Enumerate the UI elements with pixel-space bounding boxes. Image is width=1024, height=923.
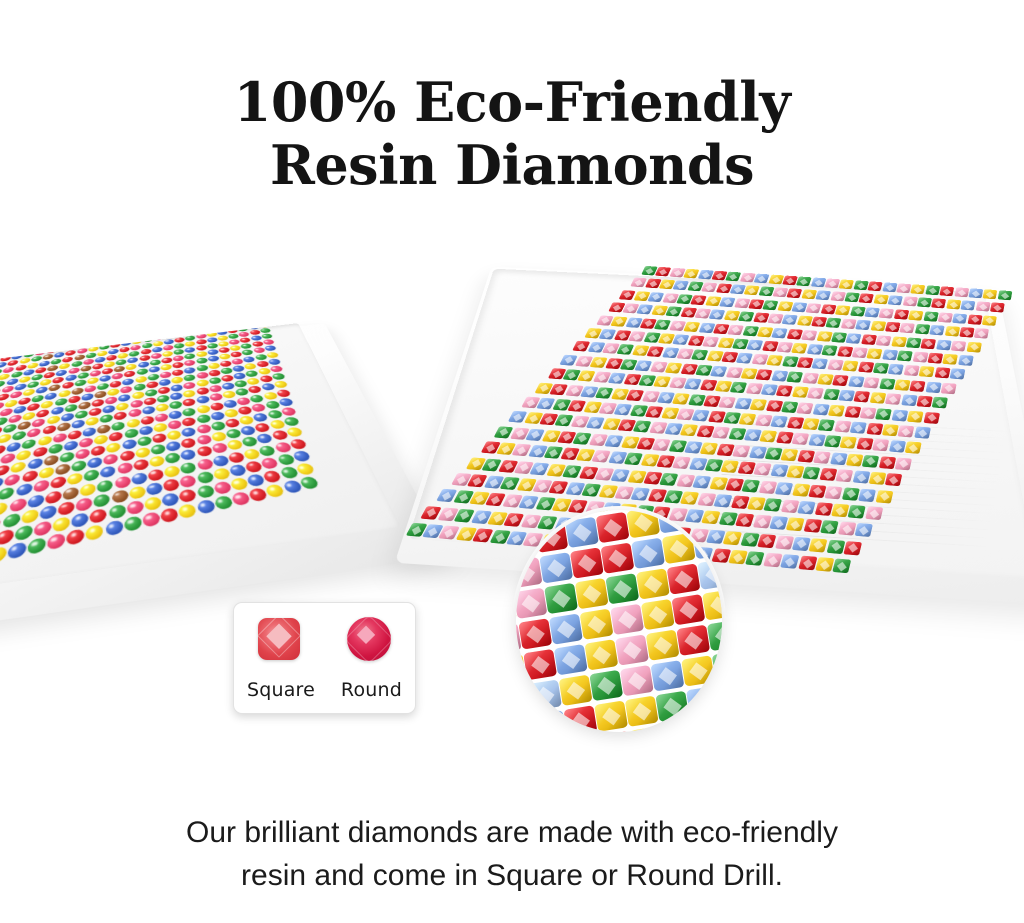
drill	[974, 328, 989, 339]
drill	[898, 425, 915, 437]
drill	[747, 340, 764, 351]
drill	[944, 326, 959, 337]
drill	[131, 471, 148, 485]
drill	[844, 406, 861, 418]
drill	[888, 296, 903, 306]
magnified-drill	[671, 594, 705, 625]
drill	[236, 323, 248, 326]
drill	[146, 481, 164, 496]
round-gem-icon	[347, 617, 391, 661]
drill	[866, 423, 883, 435]
drill	[104, 453, 119, 466]
drill	[285, 427, 304, 438]
magnified-drill	[516, 588, 547, 619]
drill	[145, 326, 156, 332]
drill	[212, 467, 231, 481]
drill	[163, 478, 181, 492]
drill	[714, 494, 733, 508]
drill	[94, 493, 111, 508]
drill	[761, 384, 778, 396]
drill	[885, 473, 903, 486]
magnified-drill	[570, 547, 604, 578]
magnified-drill	[615, 634, 649, 665]
drill	[776, 432, 794, 444]
magnified-drill	[533, 710, 567, 732]
magnified-drill	[565, 517, 599, 548]
drill	[185, 323, 196, 324]
drill	[876, 335, 892, 346]
magnified-drill	[620, 665, 654, 696]
drill	[292, 450, 312, 463]
drill	[806, 303, 822, 313]
drill	[919, 366, 935, 377]
drill-type-gems	[234, 615, 415, 663]
drill	[914, 426, 931, 438]
drill	[891, 336, 907, 347]
drill	[862, 455, 879, 468]
drill	[82, 337, 92, 343]
drill	[844, 541, 863, 555]
magnified-drill	[657, 510, 691, 534]
magnified-drill	[528, 679, 562, 710]
drill	[825, 278, 841, 288]
drill	[941, 383, 957, 395]
drill	[873, 295, 888, 305]
drill	[894, 309, 909, 319]
drill	[91, 340, 101, 346]
magnified-drill	[575, 578, 609, 609]
drill	[701, 283, 717, 293]
drill	[84, 469, 100, 483]
magnified-drill	[605, 573, 639, 604]
drill	[959, 327, 974, 338]
magnified-drill-grid	[516, 510, 722, 732]
drill	[0, 546, 7, 565]
drill	[721, 460, 740, 473]
drill	[831, 332, 847, 343]
drill	[869, 472, 887, 485]
drill	[865, 506, 883, 520]
drill	[817, 373, 834, 384]
drill	[781, 448, 799, 461]
drill	[990, 303, 1005, 313]
drill	[819, 468, 837, 481]
drill	[876, 408, 893, 420]
drill	[826, 318, 842, 328]
drill	[40, 504, 57, 520]
drill	[946, 300, 961, 310]
drill	[975, 302, 990, 312]
drill	[882, 349, 898, 360]
drill	[901, 395, 917, 407]
drill	[812, 359, 829, 370]
drill	[298, 476, 320, 491]
drill-type-card[interactable]: Square Round	[233, 602, 416, 714]
drill	[63, 486, 79, 501]
drill	[7, 542, 27, 561]
drill	[869, 392, 886, 404]
drill	[850, 422, 867, 434]
drill	[781, 499, 800, 513]
drill	[868, 281, 883, 291]
drill	[117, 462, 133, 475]
drill	[151, 444, 167, 456]
drill	[857, 362, 873, 373]
drill	[792, 433, 810, 445]
drill	[859, 294, 875, 304]
drill	[782, 356, 799, 367]
drill	[842, 361, 858, 372]
drill	[870, 321, 886, 331]
drill	[813, 403, 830, 415]
drill	[165, 323, 176, 328]
drill	[749, 446, 767, 459]
drill	[891, 409, 908, 421]
drill	[850, 306, 866, 316]
drill	[27, 346, 38, 352]
drill	[936, 339, 952, 350]
drill	[33, 479, 49, 493]
drill	[86, 524, 104, 542]
drill	[802, 418, 819, 430]
drill	[165, 328, 176, 334]
drill	[109, 504, 127, 520]
drill	[684, 321, 701, 332]
drill	[770, 464, 788, 477]
drill	[855, 320, 871, 330]
round-label: Round	[341, 679, 402, 701]
drill	[815, 557, 834, 572]
drill	[943, 354, 959, 365]
drill	[196, 458, 214, 471]
drill	[246, 323, 258, 324]
drill	[154, 329, 165, 335]
drill	[867, 348, 883, 359]
drill	[797, 501, 816, 515]
drill	[879, 378, 895, 389]
drill	[754, 274, 770, 284]
drill	[58, 500, 75, 516]
drill	[144, 496, 162, 512]
drill	[927, 353, 943, 364]
headline-line-1: 100% Eco-Friendly	[0, 73, 1024, 131]
magnified-drill	[560, 510, 594, 517]
drill	[702, 336, 719, 347]
magnified-drill	[601, 542, 635, 573]
drill	[710, 366, 727, 377]
drill	[852, 471, 870, 484]
drill	[814, 502, 832, 516]
drill	[739, 413, 757, 425]
drill	[932, 397, 948, 409]
drill	[133, 333, 144, 339]
drill	[846, 333, 862, 344]
drill	[763, 300, 779, 310]
drill	[5, 349, 16, 355]
drill	[112, 337, 122, 343]
drill	[196, 470, 215, 484]
drill	[940, 286, 955, 296]
magnified-drill	[523, 649, 557, 680]
magnified-drill	[688, 510, 722, 529]
magnified-drill	[516, 510, 533, 527]
drill	[742, 479, 761, 492]
drill	[895, 457, 912, 470]
drill	[807, 344, 824, 355]
drill	[860, 407, 877, 419]
drill	[72, 512, 89, 529]
drill	[124, 329, 134, 335]
drill	[124, 515, 143, 532]
drill	[982, 315, 997, 325]
magnified-drill	[655, 691, 689, 722]
drill	[803, 519, 822, 533]
drill	[801, 330, 817, 341]
magnified-drill	[564, 705, 598, 732]
magnified-drill	[599, 731, 633, 732]
drill	[786, 417, 804, 429]
drill	[798, 556, 817, 571]
drill	[830, 452, 848, 465]
magnified-drill	[691, 716, 722, 732]
drill	[824, 435, 842, 447]
headline-line-2: Resin Diamonds	[0, 136, 1024, 194]
drill	[833, 559, 852, 574]
drill	[797, 402, 814, 414]
drill	[885, 393, 902, 405]
square-label: Square	[247, 679, 315, 701]
drill	[827, 360, 844, 371]
drill	[923, 412, 940, 424]
drill-type-labels: Square Round	[234, 679, 415, 701]
drill	[885, 322, 901, 333]
drill	[797, 357, 814, 368]
drill	[802, 372, 819, 383]
drill	[863, 377, 880, 388]
drill	[807, 388, 824, 400]
drill	[27, 537, 46, 556]
drill	[769, 516, 788, 530]
drill	[180, 474, 198, 488]
drill	[768, 275, 784, 285]
drill	[98, 479, 114, 493]
drill	[997, 290, 1012, 300]
drill	[196, 434, 213, 446]
drill	[77, 496, 94, 512]
drill	[180, 461, 198, 474]
drill	[864, 307, 880, 317]
drill	[196, 484, 215, 499]
drill	[775, 482, 793, 495]
drill	[906, 337, 922, 348]
magnified-drill	[516, 557, 543, 588]
drill	[90, 508, 107, 524]
magnified-drill	[697, 559, 722, 590]
drill	[53, 516, 70, 533]
drill	[872, 439, 889, 452]
magnified-drill	[594, 700, 628, 731]
drill	[915, 324, 931, 335]
drill	[719, 297, 735, 307]
drill	[966, 341, 981, 352]
drill	[841, 319, 857, 329]
drill	[101, 338, 111, 344]
drill	[216, 323, 228, 324]
drill	[738, 312, 755, 322]
drill	[763, 553, 782, 568]
drill	[155, 324, 166, 330]
drill	[951, 340, 966, 351]
drill	[809, 538, 828, 552]
drill	[858, 488, 876, 501]
drill	[759, 480, 778, 493]
drill	[808, 484, 826, 497]
drill	[903, 365, 919, 376]
drill	[803, 467, 821, 480]
drill	[103, 333, 113, 339]
drill	[840, 437, 857, 449]
drill	[907, 410, 924, 422]
magnified-drill	[630, 726, 664, 732]
drill	[873, 363, 889, 374]
drill	[21, 508, 39, 524]
drill	[954, 287, 969, 297]
drill	[162, 492, 181, 507]
drill	[771, 416, 789, 428]
drill	[916, 396, 932, 408]
drill	[744, 286, 760, 296]
drill	[67, 528, 85, 546]
drill	[195, 328, 207, 334]
drill	[206, 326, 218, 332]
drill	[72, 338, 82, 344]
magnified-drill	[549, 613, 583, 644]
magnified-drill	[584, 639, 618, 670]
drill	[846, 453, 864, 466]
drill	[114, 475, 131, 489]
magnified-drill	[539, 552, 573, 583]
drill	[9, 497, 27, 512]
drill	[848, 376, 865, 387]
drill	[896, 283, 911, 293]
drill	[160, 507, 179, 524]
drill	[772, 328, 789, 339]
drill	[196, 499, 216, 515]
drill	[787, 371, 804, 382]
drill	[0, 529, 14, 547]
drill	[135, 328, 146, 334]
drill	[833, 375, 850, 386]
drill	[693, 475, 712, 488]
drill	[801, 290, 817, 300]
drill	[844, 293, 860, 303]
drill	[213, 480, 233, 495]
drill	[283, 416, 301, 427]
drill	[712, 427, 730, 439]
drill	[897, 350, 913, 361]
drill	[51, 476, 67, 490]
drill	[745, 551, 765, 566]
magnified-drill	[625, 696, 659, 727]
drill	[88, 456, 103, 469]
drill	[826, 539, 845, 553]
drill	[856, 438, 873, 451]
magnified-drill	[559, 675, 593, 706]
drill	[983, 289, 998, 299]
drill	[786, 518, 805, 532]
drill	[811, 317, 827, 327]
magnified-drill	[534, 522, 568, 553]
drill	[112, 489, 129, 504]
drill	[925, 285, 940, 295]
drill	[782, 315, 798, 325]
drill	[861, 334, 877, 345]
drill	[728, 324, 745, 335]
drill	[810, 277, 826, 287]
drill	[216, 324, 228, 330]
drill	[175, 323, 186, 326]
drill	[120, 450, 136, 462]
drill	[910, 380, 926, 391]
drill	[185, 324, 196, 330]
magnified-drill	[631, 538, 665, 569]
drill	[834, 420, 851, 432]
caption-line-2: resin and come in Square or Round Drill.	[0, 855, 1024, 898]
drill	[818, 419, 835, 431]
drill	[882, 424, 899, 436]
drill	[781, 401, 798, 413]
drill	[835, 305, 851, 315]
magnified-drill	[692, 528, 722, 559]
drill	[752, 515, 771, 529]
drill	[967, 314, 982, 324]
magnified-drill	[651, 660, 685, 691]
drill	[127, 500, 145, 516]
magnified-drill	[544, 583, 578, 614]
drill	[786, 465, 804, 478]
magnified-drill	[641, 599, 675, 630]
drill	[175, 326, 186, 332]
drill	[34, 520, 52, 537]
magnified-drill	[610, 604, 644, 635]
drill	[938, 312, 953, 322]
drill	[787, 329, 803, 340]
promo-banner: 100% Eco-Friendly Resin Diamonds Square …	[0, 0, 1024, 923]
drill	[68, 472, 83, 486]
magnified-drill	[660, 721, 694, 732]
drill	[149, 455, 166, 468]
drill	[875, 490, 893, 503]
drill	[961, 301, 976, 311]
drill	[821, 304, 837, 314]
drill	[813, 451, 831, 464]
drill	[820, 521, 839, 535]
drill	[792, 386, 809, 398]
drill	[797, 450, 815, 463]
drill	[815, 291, 831, 301]
drill	[165, 452, 182, 465]
drill	[842, 487, 860, 500]
drill	[93, 335, 103, 341]
drill	[212, 454, 230, 467]
drill	[968, 288, 983, 298]
drill	[905, 442, 922, 455]
drill	[723, 531, 743, 545]
drill	[760, 431, 778, 443]
round-drill-tray	[0, 265, 387, 640]
drill	[754, 463, 772, 476]
magnified-drill	[676, 625, 710, 656]
